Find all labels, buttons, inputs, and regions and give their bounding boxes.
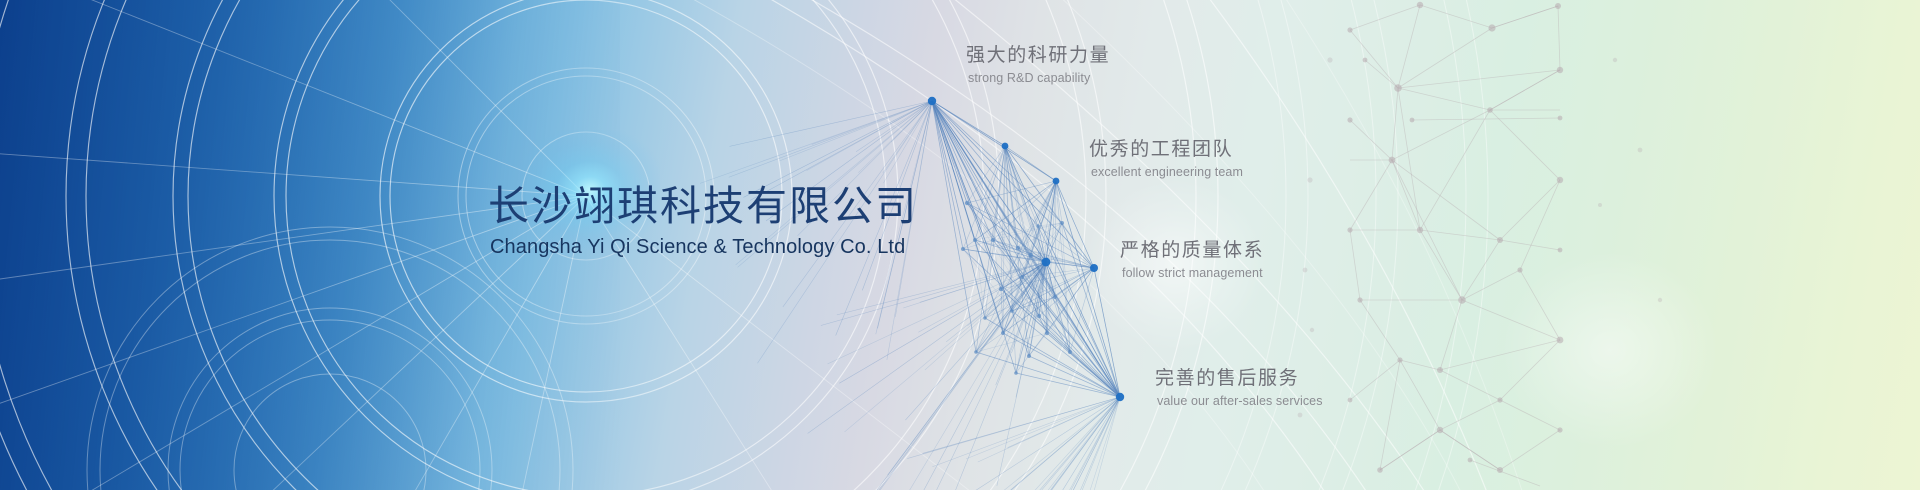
network-edge xyxy=(985,268,1094,318)
network-edge xyxy=(1012,262,1046,311)
network-edge xyxy=(1062,223,1070,352)
network-edge xyxy=(967,203,993,240)
network-edge xyxy=(985,262,1046,318)
network-edge xyxy=(932,101,1012,311)
network-edge xyxy=(1005,146,1046,262)
network-edge xyxy=(998,397,1120,490)
network-edge xyxy=(1039,181,1056,316)
network-edge xyxy=(903,262,1046,308)
network-edge xyxy=(821,262,1046,325)
network-edge xyxy=(932,101,1047,333)
feature-rnd-en: strong R&D capability xyxy=(968,70,1110,86)
network-edge xyxy=(975,223,1062,240)
network-edge xyxy=(1031,255,1047,333)
network-edge xyxy=(976,181,1056,352)
network-edge xyxy=(1003,262,1046,333)
network-edge xyxy=(985,181,1056,318)
network-edge xyxy=(1031,181,1056,255)
network-edge xyxy=(1018,181,1056,248)
network-edge xyxy=(967,397,1120,490)
network-edge xyxy=(967,181,1056,203)
network-edge xyxy=(1012,311,1120,397)
network-edge xyxy=(1003,333,1120,397)
network-edge xyxy=(828,262,1046,364)
network-edge xyxy=(1016,268,1094,373)
network-edge xyxy=(1008,397,1120,448)
network-edge xyxy=(1038,223,1062,226)
network-edge xyxy=(993,240,1120,397)
network-edge xyxy=(932,101,1039,316)
network-edge xyxy=(963,249,1094,268)
network-edge xyxy=(1005,146,1018,248)
network-edge xyxy=(808,262,1046,433)
network-edge xyxy=(1062,223,1094,268)
network-edge xyxy=(976,262,1046,352)
feature-team-en: excellent engineering team xyxy=(1091,164,1243,180)
network-edge xyxy=(1005,146,1056,181)
network-node xyxy=(1029,253,1033,257)
network-edge xyxy=(895,397,1120,490)
network-edge xyxy=(975,240,1003,333)
network-edge xyxy=(976,146,1005,352)
network-edge xyxy=(1043,397,1120,490)
network-edge xyxy=(993,240,1018,248)
network-edge xyxy=(1005,146,1047,333)
network-edge xyxy=(946,262,1046,342)
network-edge xyxy=(1047,223,1062,333)
network-edge xyxy=(1005,146,1029,356)
network-edge xyxy=(1018,223,1062,248)
network-edge xyxy=(1056,181,1094,268)
network-edge xyxy=(993,181,1056,240)
network-edge xyxy=(932,101,985,318)
network-edge xyxy=(963,249,1120,397)
network-node xyxy=(991,238,995,242)
network-edge xyxy=(1016,262,1046,373)
network-edge xyxy=(1005,146,1038,226)
hero-banner: 长沙翊琪科技有限公司 Changsha Yi Qi Science & Tech… xyxy=(0,0,1920,490)
network-edge xyxy=(991,262,1046,340)
network-edge xyxy=(1029,333,1047,356)
network-edge xyxy=(997,262,1046,486)
company-name-cn: 长沙翊琪科技有限公司 xyxy=(488,182,908,230)
network-edge xyxy=(1055,297,1120,397)
network-edge xyxy=(993,240,1046,262)
network-edge xyxy=(920,262,1046,490)
network-edge xyxy=(1031,255,1120,397)
network-edge xyxy=(963,146,1005,249)
network-edge xyxy=(1038,226,1120,397)
network-edge xyxy=(927,262,1046,490)
network-edge xyxy=(1012,268,1094,311)
network-edge xyxy=(975,240,985,318)
network-edge xyxy=(932,101,1003,333)
network-edge xyxy=(993,397,1120,490)
network-edge xyxy=(1022,262,1046,277)
network-edge xyxy=(932,101,1001,289)
network-edge xyxy=(1038,181,1056,226)
network-edge xyxy=(893,262,1046,490)
network-edge xyxy=(1094,268,1120,397)
network-edge xyxy=(985,146,1005,318)
network-node xyxy=(1060,221,1064,225)
network-edge xyxy=(1056,181,1094,268)
network-node-labeled xyxy=(1053,178,1060,185)
network-edge xyxy=(1039,268,1094,316)
network-edge xyxy=(932,101,1038,226)
network-edge xyxy=(1003,268,1094,333)
network-edge xyxy=(993,240,1070,352)
network-edge xyxy=(975,240,1094,268)
network-edge xyxy=(1001,289,1120,397)
network-edge xyxy=(1001,289,1070,352)
network-edge xyxy=(998,397,1120,490)
network-edge xyxy=(1046,262,1094,268)
network-edge xyxy=(837,262,1046,315)
network-edge xyxy=(967,203,1094,268)
network-edge xyxy=(993,240,1001,289)
network-edge xyxy=(888,262,1046,475)
network-edge xyxy=(1046,181,1056,262)
network-edge xyxy=(932,101,1046,262)
network-edge xyxy=(1012,297,1055,311)
network-edge xyxy=(932,101,1022,277)
network-edge xyxy=(1056,181,1120,397)
network-edge xyxy=(846,262,1046,490)
network-edge xyxy=(932,101,975,240)
network-edge xyxy=(975,181,1056,240)
network-edge xyxy=(1001,262,1046,289)
network-edge xyxy=(932,101,1070,352)
network-edge xyxy=(1031,255,1046,262)
network-edge xyxy=(1022,181,1056,277)
network-node xyxy=(1068,350,1072,354)
network-node xyxy=(1016,246,1020,250)
network-edge xyxy=(932,101,1016,373)
network-edge xyxy=(932,101,1029,356)
feature-service-cn: 完善的售后服务 xyxy=(1155,367,1323,391)
network-edge xyxy=(932,101,967,203)
network-edge xyxy=(932,101,1094,268)
network-edge xyxy=(1005,146,1120,397)
network-edge xyxy=(1001,289,1003,333)
soft-glow-right xyxy=(1500,250,1720,450)
network-edge xyxy=(856,101,932,152)
network-edge xyxy=(976,352,1120,397)
network-edge xyxy=(730,101,932,146)
network-edge xyxy=(932,101,1055,297)
network-edge xyxy=(932,101,1005,146)
network-edge xyxy=(963,240,993,249)
network-edge xyxy=(918,262,1046,332)
network-edge xyxy=(974,397,1120,490)
feature-label-rnd: 强大的科研力量 strong R&D capability xyxy=(966,44,1110,86)
network-edge xyxy=(932,101,1046,262)
network-edge xyxy=(975,240,1070,352)
network-node xyxy=(961,247,965,251)
network-edge xyxy=(967,203,1046,262)
network-edge xyxy=(993,223,1062,240)
network-edge xyxy=(806,101,932,171)
network-node xyxy=(1001,331,1005,335)
network-edge xyxy=(846,262,1046,490)
network-edge xyxy=(932,101,1001,289)
network-edge xyxy=(1039,262,1046,316)
network-edge xyxy=(1055,268,1094,297)
network-edge xyxy=(932,101,975,240)
network-edge xyxy=(1005,146,1039,316)
network-edge xyxy=(963,249,1046,262)
network-edge xyxy=(975,240,1046,262)
network-edge xyxy=(932,101,1056,181)
network-edge xyxy=(849,262,1046,490)
network-edge xyxy=(1022,277,1120,397)
network-edge xyxy=(1018,248,1094,268)
network-edge xyxy=(1012,268,1094,311)
network-edge xyxy=(1018,248,1046,262)
network-edge xyxy=(923,397,1120,453)
network-edge xyxy=(1005,146,1062,223)
network-node xyxy=(965,201,969,205)
network-edge xyxy=(1009,397,1120,490)
network-edge xyxy=(1046,262,1055,297)
network-edge xyxy=(932,101,1012,311)
network-edge xyxy=(1016,373,1120,397)
network-edge xyxy=(1003,262,1046,333)
network-edge xyxy=(976,333,1047,352)
network-edge xyxy=(932,101,976,352)
network-edge xyxy=(935,262,1046,490)
network-edge xyxy=(920,262,1046,302)
network-edge xyxy=(1046,262,1094,268)
network-edge xyxy=(780,101,932,161)
network-edge xyxy=(932,397,1120,467)
network-edge xyxy=(1022,262,1046,277)
network-edge xyxy=(1047,268,1094,333)
network-edge xyxy=(1005,146,1120,397)
network-node-labeled xyxy=(928,97,936,105)
network-edge xyxy=(1047,181,1056,333)
network-edge xyxy=(932,101,1056,181)
network-edge xyxy=(1022,268,1094,277)
network-edge xyxy=(729,101,932,177)
feature-service-en: value our after-sales services xyxy=(1157,393,1323,409)
network-edge xyxy=(1001,268,1094,289)
network-edge xyxy=(907,397,1120,459)
network-edge xyxy=(1001,181,1056,289)
network-edge xyxy=(1016,181,1056,373)
network-edge xyxy=(839,262,1046,383)
network-edge xyxy=(1046,181,1056,262)
network-edge xyxy=(1031,255,1046,262)
network-edge xyxy=(1005,146,1012,311)
network-node xyxy=(1053,295,1057,299)
feature-label-team: 优秀的工程团队 excellent engineering team xyxy=(1089,138,1243,180)
network-edge xyxy=(967,203,1094,268)
network-edge xyxy=(1038,226,1094,268)
network-edge xyxy=(1005,146,1022,277)
network-node xyxy=(1027,354,1031,358)
network-node xyxy=(1010,309,1014,313)
network-edge xyxy=(975,146,1005,240)
network-edge xyxy=(932,101,1031,255)
network-edge xyxy=(1038,226,1047,333)
network-edge xyxy=(976,268,1094,352)
network-edge xyxy=(967,203,1046,262)
network-node xyxy=(1045,331,1049,335)
network-constellation-graphic xyxy=(0,0,1920,490)
network-edge xyxy=(1046,262,1120,397)
network-edge xyxy=(812,101,932,145)
network-edge xyxy=(932,101,985,318)
company-title-block: 长沙翊琪科技有限公司 Changsha Yi Qi Science & Tech… xyxy=(488,182,908,259)
network-edge xyxy=(975,146,1005,240)
network-edge xyxy=(1046,262,1047,333)
network-edge xyxy=(1070,397,1120,490)
network-edge xyxy=(1012,397,1120,490)
network-edge xyxy=(1070,268,1094,352)
network-edge xyxy=(881,397,1120,490)
network-edge xyxy=(1044,397,1120,490)
network-edge xyxy=(1056,181,1070,352)
network-edge xyxy=(975,240,1120,397)
network-edge xyxy=(1056,181,1094,268)
network-edge xyxy=(1029,356,1120,397)
network-edge xyxy=(885,397,1120,490)
network-edge xyxy=(932,101,967,203)
network-edge xyxy=(1094,268,1120,397)
network-edge xyxy=(1003,226,1038,333)
network-node xyxy=(1014,371,1018,375)
company-name-en: Changsha Yi Qi Science & Technology Co. … xyxy=(490,236,908,259)
network-edge xyxy=(883,101,932,183)
network-edge xyxy=(967,146,1005,203)
network-edge xyxy=(1029,181,1056,356)
network-edge xyxy=(1012,181,1056,311)
network-edge xyxy=(1001,262,1046,289)
network-edge xyxy=(967,203,1047,333)
network-edge xyxy=(978,397,1120,462)
feature-rnd-cn: 强大的科研力量 xyxy=(966,44,1110,68)
network-edge xyxy=(1005,146,1070,352)
network-node xyxy=(973,238,977,242)
network-edge xyxy=(967,203,993,240)
network-edge xyxy=(1011,397,1120,490)
network-edge xyxy=(1038,226,1046,262)
network-edge xyxy=(1018,248,1120,397)
network-edge xyxy=(925,262,1046,370)
network-edge xyxy=(1038,181,1056,226)
network-edge xyxy=(1005,146,1094,268)
network-edge xyxy=(1031,226,1038,255)
feature-label-quality: 严格的质量体系 follow strict management xyxy=(1120,239,1264,281)
feature-team-cn: 优秀的工程团队 xyxy=(1089,138,1243,162)
network-edge xyxy=(1022,255,1031,277)
network-edge xyxy=(1003,181,1056,333)
network-edge xyxy=(1005,146,1016,373)
network-edge xyxy=(845,262,1046,432)
network-edge xyxy=(1005,146,1029,356)
network-node xyxy=(1042,258,1051,267)
network-edge xyxy=(1055,181,1056,297)
network-edge xyxy=(1005,146,1055,297)
network-edge xyxy=(976,146,1005,352)
network-edge xyxy=(858,101,932,173)
feature-label-service: 完善的售后服务 value our after-sales services xyxy=(1155,367,1323,409)
network-edge xyxy=(963,249,1012,311)
network-edge xyxy=(1001,289,1120,397)
network-edge xyxy=(1005,146,1046,262)
network-edge xyxy=(1070,352,1120,397)
network-edge xyxy=(1047,333,1120,397)
network-edge xyxy=(891,101,932,142)
network-node-labeled xyxy=(1090,264,1098,272)
network-node xyxy=(1037,314,1041,318)
network-edge xyxy=(993,146,1005,240)
network-edge xyxy=(966,397,1120,459)
network-edge xyxy=(1056,181,1120,397)
network-edge xyxy=(1022,277,1055,297)
network-edge xyxy=(1046,181,1056,262)
network-edge xyxy=(1011,262,1046,353)
network-edge xyxy=(1003,397,1120,490)
network-edge xyxy=(923,397,1120,490)
network-edge xyxy=(1022,223,1062,277)
network-edge xyxy=(932,101,993,240)
network-edge xyxy=(883,101,932,173)
network-edge xyxy=(967,203,1120,397)
network-edge xyxy=(1005,146,1056,181)
network-edge xyxy=(996,262,1046,385)
network-edge xyxy=(985,318,1120,397)
network-edge xyxy=(1056,181,1062,223)
network-edge xyxy=(916,397,1120,490)
globe-wireframe-decoration xyxy=(0,0,1920,490)
network-edge xyxy=(932,101,1003,333)
network-node xyxy=(1036,224,1040,228)
network-edge xyxy=(1047,333,1120,397)
network-edge xyxy=(1038,226,1047,333)
network-edge xyxy=(1029,268,1094,356)
network-edge xyxy=(925,397,1120,490)
network-edge xyxy=(1046,262,1070,352)
network-edge xyxy=(1016,262,1046,397)
feature-quality-cn: 严格的质量体系 xyxy=(1120,239,1264,263)
network-edge xyxy=(1062,223,1120,397)
network-edge xyxy=(963,181,1056,249)
network-edge xyxy=(1039,316,1120,397)
network-edge xyxy=(1003,255,1031,333)
network-edge xyxy=(1038,226,1039,316)
network-edge xyxy=(914,397,1120,490)
network-edge xyxy=(1005,146,1031,255)
network-edge xyxy=(1022,226,1038,277)
network-node xyxy=(1020,275,1024,279)
network-edge xyxy=(967,181,1056,203)
network-node-labeled xyxy=(1116,393,1124,401)
network-edge xyxy=(962,397,1120,490)
network-edge xyxy=(1018,248,1055,297)
network-edge xyxy=(932,101,1018,248)
network-node xyxy=(983,316,987,320)
network-edge xyxy=(1003,223,1062,333)
network-edge xyxy=(1055,268,1094,297)
network-edge xyxy=(1046,262,1120,397)
network-edge xyxy=(932,101,1062,223)
network-edge xyxy=(1029,262,1046,356)
network-edge xyxy=(905,262,1046,420)
feature-quality-en: follow strict management xyxy=(1122,265,1264,281)
